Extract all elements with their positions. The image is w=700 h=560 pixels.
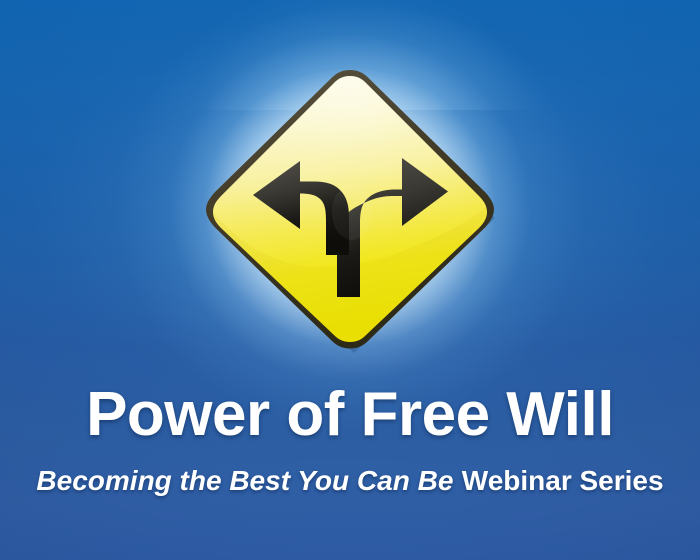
banner-subtitle: Becoming the Best You Can BeWebinar Seri… (0, 467, 700, 495)
subtitle-upright-part: Webinar Series (462, 465, 664, 496)
background-top-glow (0, 0, 700, 110)
page-title: Power of Free Will (0, 384, 700, 446)
subtitle-italic-part: Becoming the Best You Can Be (36, 465, 453, 496)
banner-canvas: Power of Free Will Becoming the Best You… (0, 0, 700, 560)
banner-text-lockup: Power of Free Will Becoming the Best You… (0, 384, 700, 495)
